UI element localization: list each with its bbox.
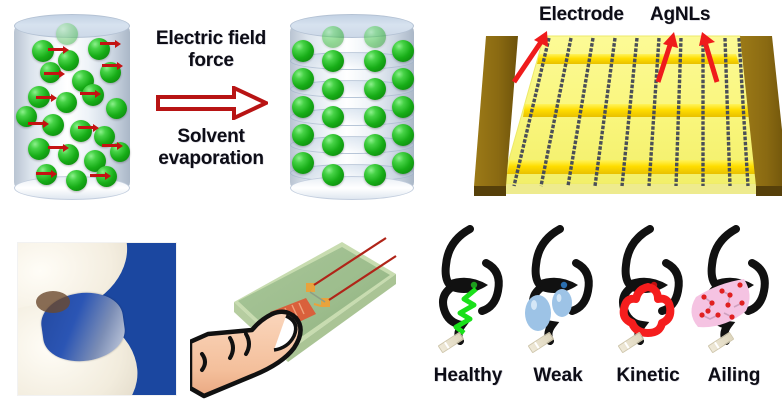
- condition-label-weak: Weak: [516, 365, 600, 387]
- nanoparticle: [322, 134, 344, 156]
- nanoparticle: [364, 106, 386, 128]
- condition-cell-weak: Weak: [516, 225, 600, 385]
- nanoparticle: [322, 26, 344, 48]
- panel-pulse-conditions: Healthy Weak: [420, 225, 782, 413]
- force-arrow: [44, 72, 60, 75]
- condition-label-ailing: Ailing: [692, 365, 776, 387]
- panel-nanoparticle-alignment: Electric field force Solvent evaporation: [0, 0, 440, 215]
- force-arrow: [90, 174, 106, 177]
- emission-blue-droplets: [522, 287, 576, 337]
- process-label-solvent-evaporation: Solvent evaporation: [140, 126, 282, 170]
- emission-red-ring: [618, 283, 676, 339]
- droplet-highlight: [557, 294, 562, 302]
- nanoparticle: [392, 68, 414, 90]
- nanoparticle: [392, 124, 414, 146]
- nanoparticle: [66, 170, 87, 191]
- nanoparticle: [292, 152, 314, 174]
- nanoparticle: [56, 92, 77, 113]
- force-arrow: [48, 146, 64, 149]
- device-svg: [440, 0, 782, 215]
- condition-cell-healthy: Healthy: [426, 225, 510, 385]
- force-arrow: [100, 42, 116, 45]
- nanoparticle: [292, 96, 314, 118]
- panel-finger-press: [190, 230, 402, 413]
- nanoparticle: [292, 40, 314, 62]
- force-arrow: [80, 92, 96, 95]
- cylinder-top-ellipse: [290, 14, 414, 38]
- droplet: [552, 289, 572, 317]
- condition-cell-ailing: Ailing: [692, 225, 776, 385]
- nanoparticle: [364, 164, 386, 186]
- nanoparticle: [322, 50, 344, 72]
- nanoparticle: [322, 106, 344, 128]
- emission-pink-aerosol: [684, 277, 758, 339]
- cylinder-bottom-ellipse: [290, 176, 414, 200]
- condition-cell-kinetic: Kinetic: [606, 225, 690, 385]
- panel-device-schematic: Electrode AgNLs: [440, 0, 782, 215]
- cylinder-disordered: [14, 14, 130, 200]
- nanoparticle: [32, 40, 54, 62]
- force-arrow: [102, 144, 118, 147]
- force-arrow: [28, 122, 44, 125]
- nanoparticle: [322, 78, 344, 100]
- finger-press-svg: [190, 230, 402, 413]
- force-arrow: [36, 96, 52, 99]
- force-arrow: [36, 172, 52, 175]
- emission-green-zigzag: [442, 285, 486, 339]
- droplet: [525, 295, 551, 331]
- nanoparticle: [28, 138, 50, 160]
- nanoparticle: [106, 98, 127, 119]
- nanoparticle: [364, 134, 386, 156]
- device-edge-highlight: [36, 291, 70, 313]
- nanoparticle: [292, 68, 314, 90]
- nanoparticle: [70, 120, 92, 142]
- nanoparticle: [292, 124, 314, 146]
- condition-label-healthy: Healthy: [426, 365, 510, 387]
- force-arrow: [48, 48, 64, 51]
- panel-flexibility-photograph: [18, 243, 176, 395]
- nanoparticle: [364, 50, 386, 72]
- nanoparticle: [364, 78, 386, 100]
- nanoparticle: [322, 164, 344, 186]
- nanoparticle: [364, 26, 386, 48]
- figure-root: Electric field force Solvent evaporation: [0, 0, 782, 413]
- cylinder-ordered: [290, 14, 414, 200]
- nanoparticle: [392, 96, 414, 118]
- process-arrow: [156, 86, 268, 120]
- force-arrow: [78, 126, 94, 129]
- droplet-highlight: [531, 300, 537, 310]
- process-label-electric-field: Electric field force: [148, 28, 274, 72]
- nanoparticle: [56, 23, 78, 45]
- nanoparticle: [392, 152, 414, 174]
- nanoparticle: [392, 40, 414, 62]
- force-arrow: [102, 64, 118, 67]
- condition-label-kinetic: Kinetic: [606, 365, 690, 387]
